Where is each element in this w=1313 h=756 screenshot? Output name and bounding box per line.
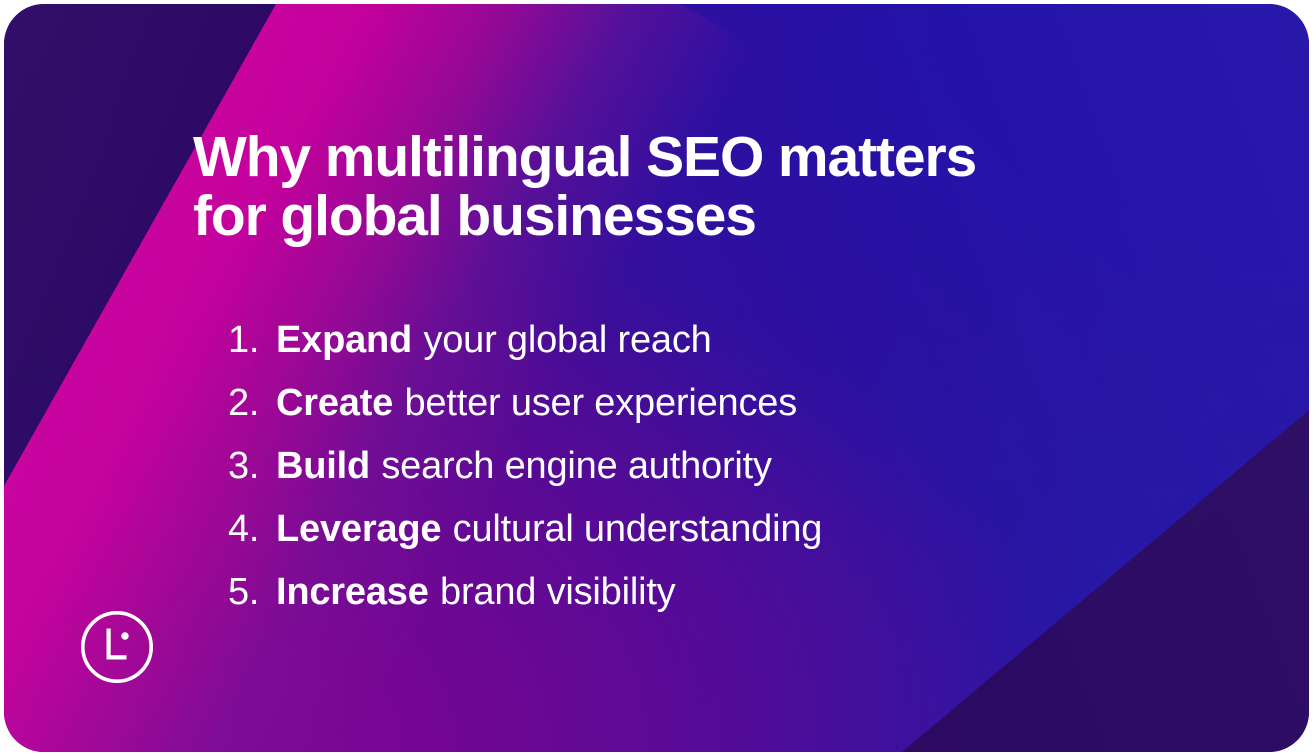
list-item-number: 2. bbox=[228, 372, 276, 435]
list-item: 5. Increase brand visibility bbox=[228, 561, 822, 624]
list-item-text: search engine authority bbox=[381, 435, 771, 498]
list-item-text: your global reach bbox=[423, 309, 711, 372]
list-item-number: 5. bbox=[228, 561, 276, 624]
slide-content: Why multilingual SEO matters for global … bbox=[4, 4, 1309, 752]
circled-l-logo-icon bbox=[80, 610, 154, 684]
list-item: 2. Create better user experiences bbox=[228, 372, 822, 435]
list-item-text: better user experiences bbox=[404, 372, 797, 435]
list-item-keyword: Build bbox=[276, 435, 370, 498]
list-item: 4. Leverage cultural understanding bbox=[228, 498, 822, 561]
list-item: 1. Expand your global reach bbox=[228, 309, 822, 372]
list-item-text: brand visibility bbox=[440, 561, 675, 624]
list-item-keyword: Expand bbox=[276, 309, 412, 372]
list-item-keyword: Leverage bbox=[276, 498, 441, 561]
list-item: 3. Build search engine authority bbox=[228, 435, 822, 498]
list-item-keyword: Create bbox=[276, 372, 393, 435]
list-item-number: 1. bbox=[228, 309, 276, 372]
slide-card: Why multilingual SEO matters for global … bbox=[4, 4, 1309, 752]
list-item-number: 4. bbox=[228, 498, 276, 561]
benefits-list: 1. Expand your global reach 2. Create be… bbox=[228, 309, 822, 624]
list-item-keyword: Increase bbox=[276, 561, 429, 624]
list-item-number: 3. bbox=[228, 435, 276, 498]
page-title: Why multilingual SEO matters for global … bbox=[193, 128, 1173, 246]
list-item-text: cultural understanding bbox=[453, 498, 823, 561]
brand-logo bbox=[80, 610, 154, 684]
